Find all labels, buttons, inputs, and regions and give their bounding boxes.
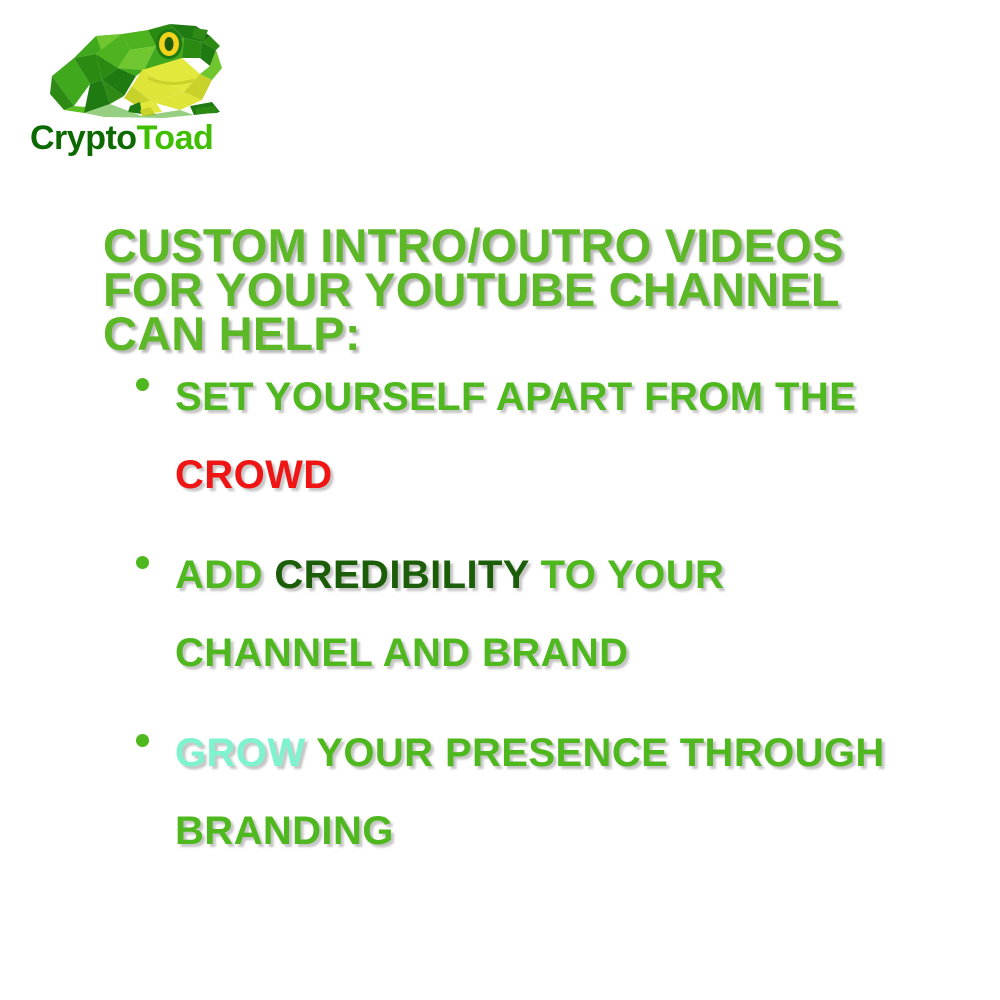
- text-segment: SET YOURSELF APART FROM THE: [175, 375, 856, 419]
- frog-logo-icon: [44, 14, 229, 122]
- list-item: GROW YOUR PRESENCE THROUGH BRANDING: [128, 714, 928, 870]
- text-segment: ADD: [175, 553, 274, 597]
- headline-line-3: CAN HELP:: [103, 312, 923, 356]
- bullet-dot-icon: [136, 378, 149, 391]
- brand-logo: CryptoToad: [14, 14, 244, 154]
- list-item-text: GROW YOUR PRESENCE THROUGH BRANDING: [175, 714, 928, 870]
- benefits-list: SET YOURSELF APART FROM THE CROWD ADD CR…: [128, 358, 928, 892]
- highlight-grow: GROW: [175, 731, 305, 775]
- list-item-text: SET YOURSELF APART FROM THE CROWD: [175, 358, 928, 514]
- list-item: ADD CREDIBILITY TO YOUR CHANNEL AND BRAN…: [128, 536, 928, 692]
- bullet-dot-icon: [136, 556, 149, 569]
- bullet-dot-icon: [136, 734, 149, 747]
- wordmark-crypto: Crypto: [30, 119, 137, 157]
- headline-line-2: FOR YOUR YOUTUBE CHANNEL: [103, 268, 923, 312]
- list-item-text: ADD CREDIBILITY TO YOUR CHANNEL AND BRAN…: [175, 536, 928, 692]
- list-item: SET YOURSELF APART FROM THE CROWD: [128, 358, 928, 514]
- highlight-crowd: CROWD: [175, 453, 333, 497]
- brand-wordmark: CryptoToad: [30, 118, 240, 158]
- wordmark-toad: Toad: [137, 119, 214, 157]
- highlight-credibility: CREDIBILITY: [274, 553, 529, 597]
- page-title: CUSTOM INTRO/OUTRO VIDEOS FOR YOUR YOUTU…: [103, 224, 923, 356]
- headline-line-1: CUSTOM INTRO/OUTRO VIDEOS: [103, 224, 923, 268]
